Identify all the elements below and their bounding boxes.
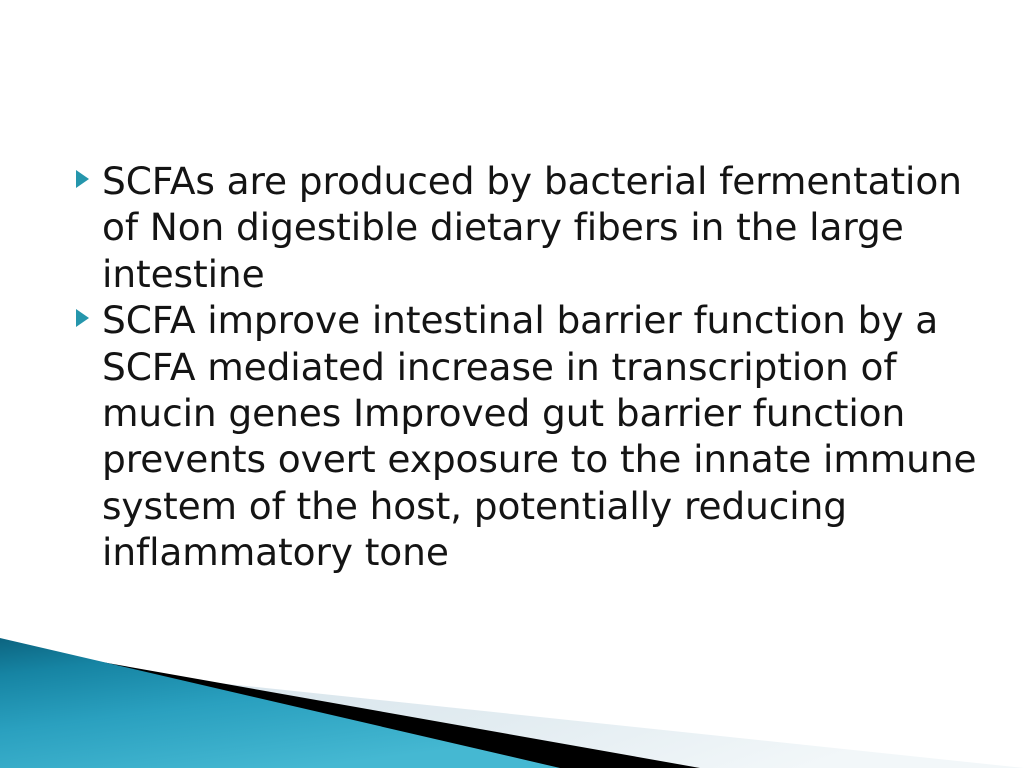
triangle-right-icon [76,309,89,327]
slide-canvas: SCFAs are produced by bacterial fermenta… [0,0,1024,768]
list-item[interactable]: SCFA improve intestinal barrier function… [72,297,984,575]
bullet-text-2: SCFA improve intestinal barrier function… [102,297,984,575]
teal-wedge-shape [0,638,560,768]
pale-band-shape [0,660,1024,768]
slide-body-placeholder: SCFAs are produced by bacterial fermenta… [72,158,984,576]
black-stripe-shape [0,644,700,768]
bullet-text-1: SCFAs are produced by bacterial fermenta… [102,158,984,297]
list-item[interactable]: SCFAs are produced by bacterial fermenta… [72,158,984,297]
bottom-diagonal-banner [0,608,1024,768]
triangle-right-icon [76,170,89,188]
